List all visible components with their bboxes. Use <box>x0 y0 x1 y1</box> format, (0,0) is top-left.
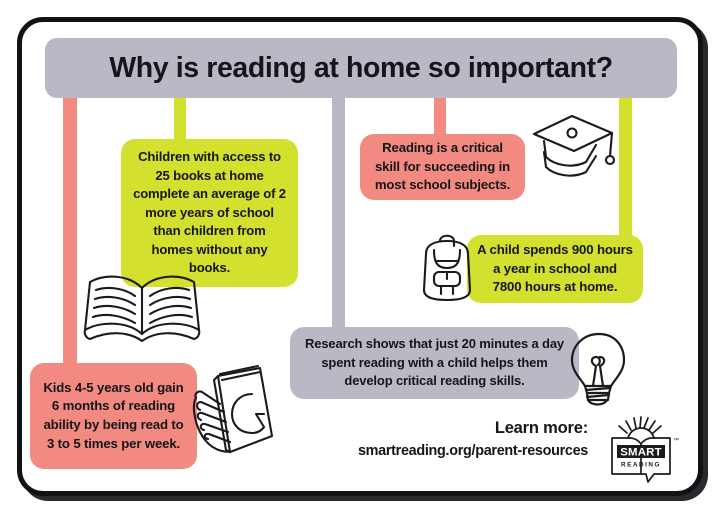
logo-primary-text: SMART <box>620 446 662 458</box>
connector-pink-left <box>63 90 77 380</box>
learn-more-url[interactable]: smartreading.org/parent-resources <box>328 442 588 461</box>
callout-books-at-home-text: Children with access to 25 books at home… <box>131 148 288 278</box>
callout-twenty-minutes-text: Research shows that just 20 minutes a da… <box>300 335 569 390</box>
footer: Learn more: smartreading.org/parent-reso… <box>330 418 680 480</box>
callout-twenty-minutes: Research shows that just 20 minutes a da… <box>290 327 579 399</box>
infographic-poster: Why is reading at home so important? Chi… <box>0 0 720 513</box>
graduation-cap-icon <box>528 112 618 188</box>
callout-kids-4-5-text: Kids 4-5 years old gain 6 months of read… <box>40 379 187 454</box>
callout-critical-skill-text: Reading is a critical skill for succeedi… <box>370 139 515 195</box>
open-book-icon <box>78 268 208 346</box>
logo-secondary-text: READING <box>621 462 661 469</box>
callout-hours-at-home: A child spends 900 hours a year in schoo… <box>467 235 643 303</box>
backpack-icon <box>414 228 480 304</box>
footer-text-block: Learn more: smartreading.org/parent-reso… <box>328 418 588 460</box>
lightbulb-icon <box>566 330 632 412</box>
page-title: Why is reading at home so important? <box>109 54 612 83</box>
logo-trademark: ™ <box>673 437 679 444</box>
callout-critical-skill: Reading is a critical skill for succeedi… <box>360 134 525 200</box>
smart-reading-logo[interactable]: SMART READING ™ <box>602 416 680 488</box>
connector-green-hours <box>619 90 632 246</box>
poster-title-bar: Why is reading at home so important? <box>45 38 677 98</box>
callout-kids-4-5: Kids 4-5 years old gain 6 months of read… <box>30 363 197 469</box>
callout-hours-at-home-text: A child spends 900 hours a year in schoo… <box>477 241 633 297</box>
callout-books-at-home: Children with access to 25 books at home… <box>121 139 298 287</box>
connector-gray-research <box>332 90 345 340</box>
hand-holding-book-icon <box>190 358 290 462</box>
learn-more-label: Learn more: <box>328 418 588 439</box>
